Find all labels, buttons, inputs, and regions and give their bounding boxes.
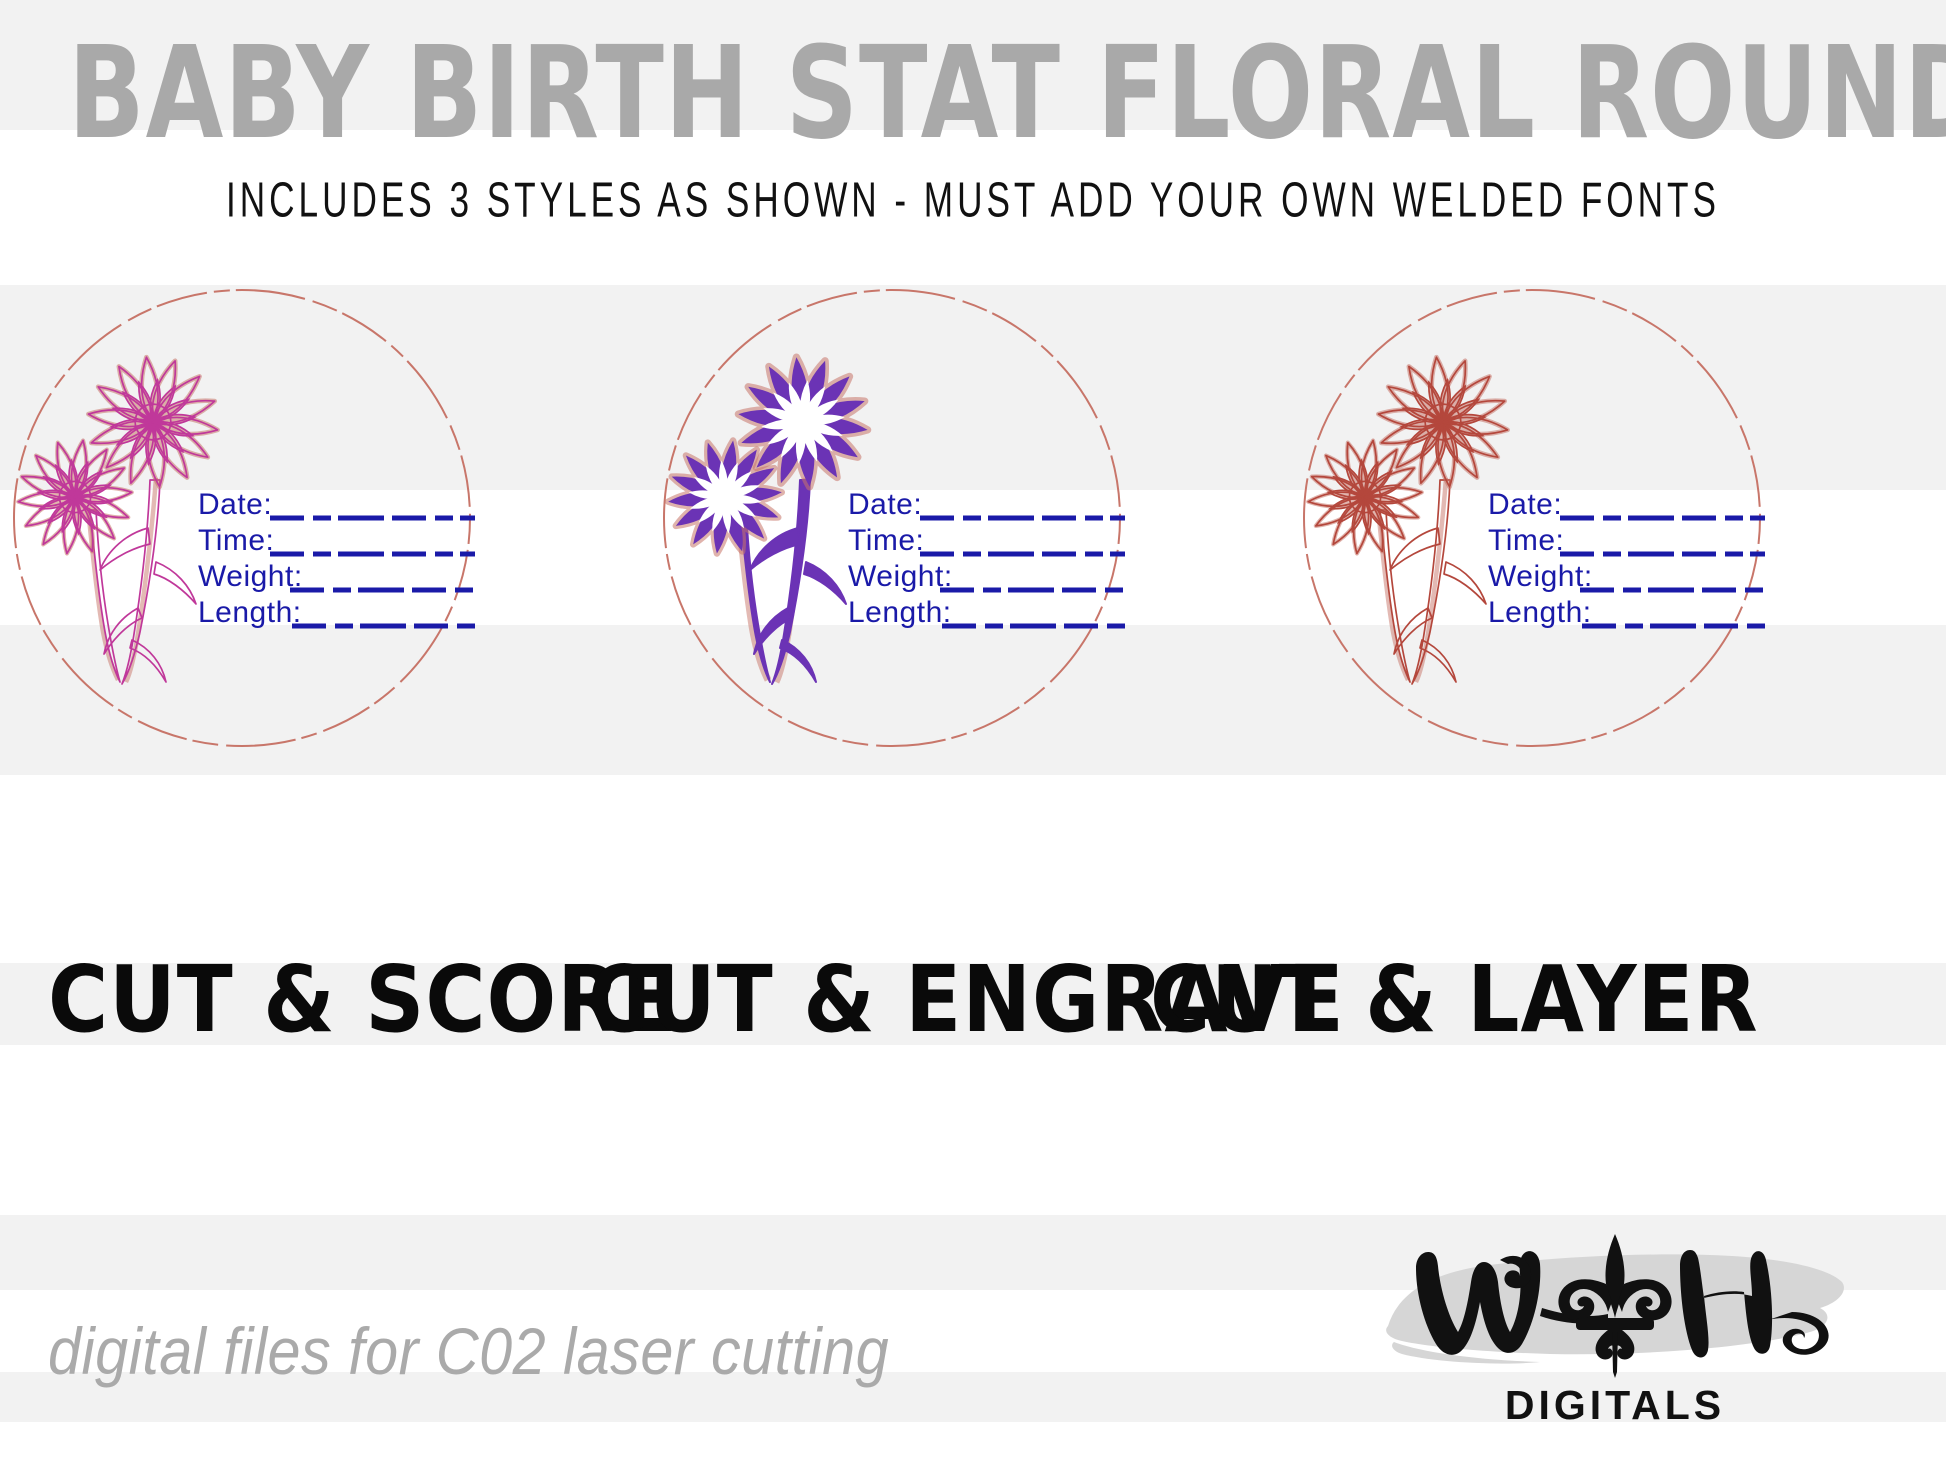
field-label-length: Length: <box>848 596 952 629</box>
poster-canvas: BABY BIRTH STAT FLORAL ROUND INCLUDES 3 … <box>0 0 1946 1460</box>
stat-field-block: Date: Time: Weight: Length: <box>198 488 475 629</box>
stat-field-block: Date: Time: Weight: Length: <box>848 488 1125 629</box>
field-label-weight: Weight: <box>848 560 953 593</box>
design-panel-1: Date: Time: Weight: Length: <box>620 282 1260 782</box>
field-label-time: Time: <box>1488 524 1564 557</box>
field-label-time: Time: <box>198 524 274 557</box>
field-label-weight: Weight: <box>1488 560 1593 593</box>
design-artwork-1: Date: Time: Weight: Length: <box>620 282 1260 782</box>
fleur-de-lis-icon <box>1558 1234 1671 1378</box>
field-label-date: Date: <box>198 488 272 521</box>
field-label-length: Length: <box>1488 596 1592 629</box>
field-label-date: Date: <box>848 488 922 521</box>
field-label-date: Date: <box>1488 488 1562 521</box>
design-panel-2: Date: Time: Weight: Length: <box>1260 282 1900 782</box>
header: BABY BIRTH STAT FLORAL ROUND INCLUDES 3 … <box>0 0 1946 216</box>
design-preview-row: Date: Time: Weight: Length: <box>0 282 1946 782</box>
flower-artwork <box>668 357 867 684</box>
page-title: BABY BIRTH STAT FLORAL ROUND <box>68 0 1878 158</box>
style-caption-row: CUT & SCORE CUT & ENGRAVE CUT & LAYER <box>0 955 1946 1065</box>
logo-wordmark <box>1380 1232 1850 1380</box>
design-artwork-2: Date: Time: Weight: Length: <box>1260 282 1900 782</box>
design-panel-0: Date: Time: Weight: Length: <box>0 282 610 782</box>
field-label-weight: Weight: <box>198 560 303 593</box>
stat-field-block: Date: Time: Weight: Length: <box>1488 488 1765 629</box>
flower-artwork <box>1308 357 1507 684</box>
footer-tagline: digital files for C02 laser cutting <box>48 1318 889 1384</box>
field-label-length: Length: <box>198 596 302 629</box>
brand-logo: DIGITALS <box>1380 1230 1900 1445</box>
page-subtitle: INCLUDES 3 STYLES AS SHOWN - MUST ADD YO… <box>117 176 1829 225</box>
style-caption-cut-and-score: CUT & SCORE <box>48 955 678 1047</box>
flower-artwork <box>18 357 217 684</box>
logo-subtext: DIGITALS <box>1380 1382 1850 1429</box>
logo-letter-h <box>1680 1250 1829 1358</box>
design-artwork-0: Date: Time: Weight: Length: <box>0 282 610 782</box>
style-caption-cut-and-layer: CUT & LAYER <box>1150 955 1759 1047</box>
field-label-time: Time: <box>848 524 924 557</box>
